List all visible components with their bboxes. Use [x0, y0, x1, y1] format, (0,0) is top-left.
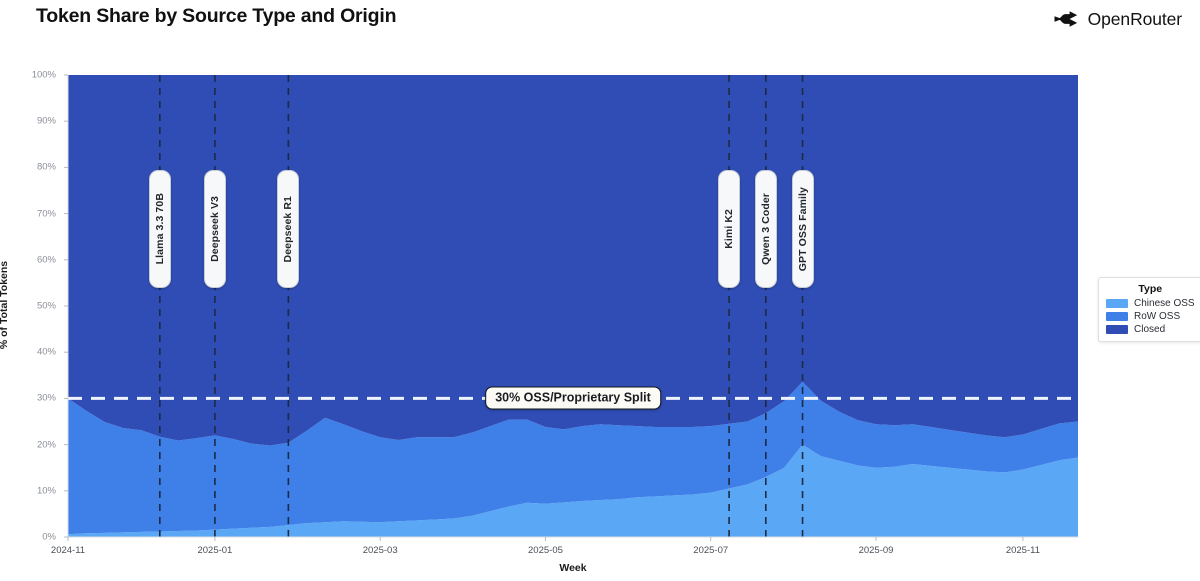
marker-annotation-label: GPT OSS Family	[797, 187, 809, 271]
x-axis-label: Week	[559, 562, 586, 574]
x-axis-tick-label: 2025-09	[859, 545, 894, 556]
y-axis-tick-label: 10%	[22, 485, 56, 496]
x-axis-tick-label: 2025-03	[363, 545, 398, 556]
legend-swatch	[1106, 312, 1128, 321]
legend: Type Chinese OSSRoW OSSClosed	[1098, 277, 1200, 342]
y-axis-label: % of Total Tokens	[0, 261, 10, 349]
legend-item-label: RoW OSS	[1134, 311, 1180, 322]
marker-annotation-label: Qwen 3 Coder	[760, 193, 772, 265]
y-axis-tick-label: 100%	[22, 70, 56, 81]
marker-annotation: Qwen 3 Coder	[755, 170, 777, 288]
legend-item-label: Closed	[1134, 324, 1165, 335]
x-axis-tick-label: 2025-07	[693, 545, 728, 556]
x-axis-tick-label: 2024-11	[51, 545, 85, 556]
legend-swatch	[1106, 325, 1128, 334]
legend-item[interactable]: RoW OSS	[1106, 311, 1195, 322]
y-axis-tick-label: 50%	[22, 301, 56, 312]
marker-annotation-label: Kimi K2	[723, 209, 735, 249]
marker-annotation: Llama 3.3 70B	[149, 170, 171, 288]
legend-item-label: Chinese OSS	[1134, 298, 1195, 309]
marker-annotation: Deepseek R1	[277, 170, 299, 288]
y-axis-tick-label: 30%	[22, 393, 56, 404]
x-axis-tick-label: 2025-01	[197, 545, 232, 556]
marker-annotation-label: Deepseek V3	[209, 196, 221, 262]
y-axis-tick-label: 0%	[22, 532, 56, 543]
y-axis-tick-label: 20%	[22, 439, 56, 450]
y-axis-tick-label: 80%	[22, 162, 56, 173]
y-axis-tick-label: 90%	[22, 116, 56, 127]
marker-annotation: GPT OSS Family	[792, 170, 814, 288]
stacked-area-chart	[0, 0, 1200, 581]
threshold-annotation-label: 30% OSS/Proprietary Split	[485, 387, 661, 410]
marker-annotation-label: Llama 3.3 70B	[154, 193, 166, 264]
marker-annotation: Kimi K2	[718, 170, 740, 288]
legend-title: Type	[1106, 283, 1195, 295]
legend-swatch	[1106, 299, 1128, 308]
marker-annotation: Deepseek V3	[204, 170, 226, 288]
marker-annotation-label: Deepseek R1	[282, 196, 294, 262]
legend-item[interactable]: Chinese OSS	[1106, 298, 1195, 309]
y-axis-tick-label: 40%	[22, 347, 56, 358]
y-axis-tick-label: 60%	[22, 254, 56, 265]
legend-item[interactable]: Closed	[1106, 324, 1195, 335]
chart-plot-area	[0, 0, 1200, 581]
x-axis-tick-label: 2025-05	[528, 545, 563, 556]
y-axis-tick-label: 70%	[22, 208, 56, 219]
x-axis-tick-label: 2025-11	[1006, 545, 1040, 556]
